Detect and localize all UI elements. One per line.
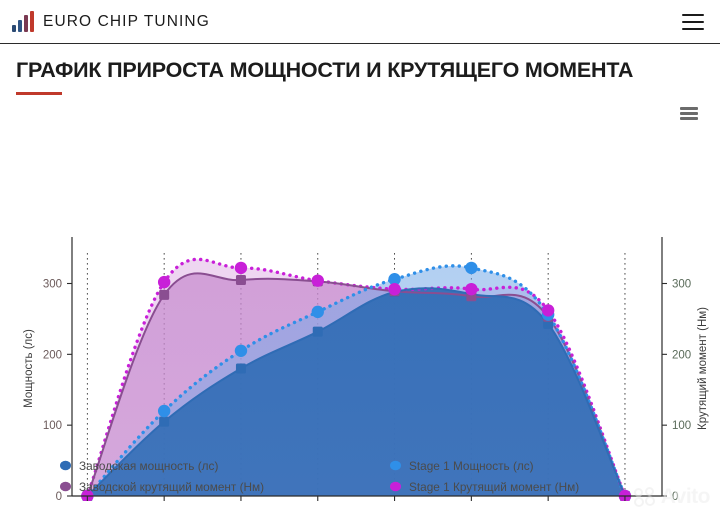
data-point bbox=[236, 364, 246, 374]
chart-legend: Заводская мощность (лс) Stage 1 Мощность… bbox=[0, 455, 720, 497]
legend-item-stage1-power[interactable]: Stage 1 Мощность (лс) bbox=[390, 459, 660, 473]
data-point bbox=[235, 262, 247, 274]
page-title: ГРАФИК ПРИРОСТА МОЩНОСТИ И КРУТЯЩЕГО МОМ… bbox=[16, 58, 704, 83]
data-point bbox=[236, 275, 246, 285]
data-point bbox=[313, 327, 323, 337]
y-axis-title: Мощность (лс) bbox=[23, 329, 35, 408]
page-head: ГРАФИК ПРИРОСТА МОЩНОСТИ И КРУТЯЩЕГО МОМ… bbox=[0, 44, 720, 95]
brand: EURO CHIP TUNING bbox=[12, 12, 210, 32]
data-point bbox=[312, 274, 324, 286]
hamburger-menu-icon[interactable] bbox=[682, 14, 704, 30]
data-point bbox=[159, 417, 169, 427]
y2-axis-title: Крутящий момент (Нм) bbox=[697, 307, 709, 430]
y2-axis-tick-label: 300 bbox=[672, 279, 691, 291]
data-point bbox=[388, 283, 400, 295]
y2-axis-tick-label: 200 bbox=[672, 349, 691, 361]
legend-item-stock-torque[interactable]: Заводской крутящий момент (Нм) bbox=[60, 480, 390, 494]
data-point bbox=[465, 262, 477, 274]
brand-name: EURO CHIP TUNING bbox=[43, 13, 210, 31]
chart-context-menu-icon[interactable] bbox=[680, 107, 698, 120]
data-point bbox=[159, 290, 169, 300]
chart-canvas: 0010010020020030030010002000300040005000… bbox=[0, 101, 720, 501]
legend-label: Stage 1 Мощность (лс) bbox=[409, 459, 534, 473]
legend-item-stock-power[interactable]: Заводская мощность (лс) bbox=[60, 459, 390, 473]
legend-label: Stage 1 Крутящий момент (Нм) bbox=[409, 480, 579, 494]
bar-chart-logo-icon bbox=[12, 12, 34, 32]
y2-axis-tick-label: 100 bbox=[672, 420, 691, 432]
legend-item-stage1-torque[interactable]: Stage 1 Крутящий момент (Нм) bbox=[390, 480, 660, 494]
y-axis-tick-label: 300 bbox=[43, 279, 62, 291]
legend-color-swatch bbox=[60, 461, 71, 470]
legend-color-swatch bbox=[390, 461, 401, 470]
app-header: EURO CHIP TUNING bbox=[0, 0, 720, 44]
data-point bbox=[158, 276, 170, 288]
dyno-chart: 0010010020020030030010002000300040005000… bbox=[0, 101, 720, 501]
data-point bbox=[312, 306, 324, 318]
data-point bbox=[465, 283, 477, 295]
y-axis-tick-label: 100 bbox=[43, 420, 62, 432]
legend-color-swatch bbox=[390, 482, 401, 491]
title-accent-rule bbox=[16, 92, 62, 95]
data-point bbox=[235, 345, 247, 357]
legend-color-swatch bbox=[60, 482, 71, 491]
legend-label: Заводской крутящий момент (Нм) bbox=[79, 480, 264, 494]
legend-label: Заводская мощность (лс) bbox=[79, 459, 218, 473]
y-axis-tick-label: 200 bbox=[43, 349, 62, 361]
data-point bbox=[158, 405, 170, 417]
data-point bbox=[542, 304, 554, 316]
